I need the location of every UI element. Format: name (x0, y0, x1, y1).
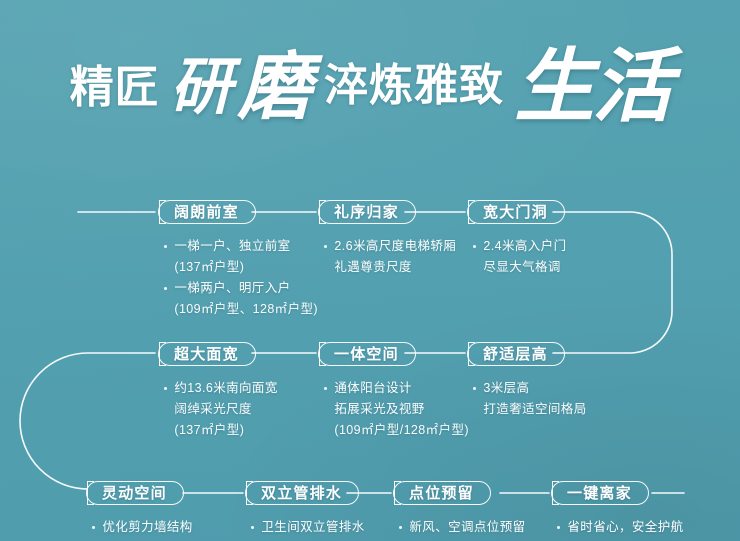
node-label-pill[interactable]: 宽大门洞 (467, 200, 565, 224)
list-item: 礼遇尊贵尺度 (324, 257, 456, 278)
node-title: 阔朗前室 (174, 205, 239, 220)
list-item: 省时省心，安全护航 (557, 517, 684, 538)
bracket-icon (394, 481, 395, 506)
list-item: 打造奢适空间格局 (473, 399, 587, 420)
headline-part-5: 生活 (514, 46, 670, 126)
node-title: 灵动空间 (102, 486, 167, 501)
feature-node-dianwei-yuliu[interactable]: 点位预留 新风、空调点位预留 便于后期装修 (393, 481, 526, 541)
page-headline: 精匠 研 磨 淬炼雅致 生活 (0, 34, 740, 114)
node-title: 超大面宽 (174, 347, 239, 362)
bullet-text: 优化剪力墙结构 (102, 517, 192, 538)
node-title: 礼序归家 (334, 205, 399, 220)
list-item: (137㎡户型) (164, 257, 318, 278)
bullet-text: 拓展采光及视野 (334, 399, 424, 420)
feature-node-yijian-lijia[interactable]: 一键离家 省时省心，安全护航 (551, 481, 684, 538)
node-title: 舒适层高 (483, 347, 548, 362)
feature-node-kuanda-mendong[interactable]: 宽大门洞 2.4米高入户门 尽显大气格调 (467, 200, 566, 278)
bracket-icon (468, 342, 469, 367)
list-item: 优化剪力墙结构 (92, 517, 193, 538)
list-item: 3米层高 (473, 378, 587, 399)
bullet-text: 卫生间双立管排水 (261, 517, 364, 538)
bullet-text: 阔绰采光尺度 (174, 399, 251, 420)
list-item: 2.6米高尺度电梯轿厢 (324, 236, 456, 257)
feature-node-kuolang-qianshi[interactable]: 阔朗前室 一梯一户、独立前室 (137㎡户型) 一梯两户、明厅入户 (109㎡户… (158, 200, 318, 320)
node-label-pill[interactable]: 一键离家 (551, 481, 649, 505)
node-label-pill[interactable]: 阔朗前室 (158, 200, 256, 224)
bullet-text: (137㎡户型) (174, 257, 244, 278)
feature-node-lingdong-kongjian[interactable]: 灵动空间 优化剪力墙结构 实现空间多变 (86, 481, 193, 541)
bullet-text: 一梯一户、独立前室 (174, 236, 290, 257)
list-item: 一梯一户、独立前室 (164, 236, 318, 257)
bullet-text: 通体阳台设计 (334, 378, 411, 399)
bullet-dot-icon (473, 387, 476, 390)
list-item: 约13.6米南向面宽 (164, 378, 278, 399)
feature-node-yiti-kongjian[interactable]: 一体空间 通体阳台设计 拓展采光及视野 (109㎡户型/128㎡户型) (318, 342, 469, 441)
headline-part-3: 磨 (238, 50, 310, 124)
bracket-icon (87, 481, 88, 506)
connector-left-uturn (20, 353, 155, 489)
list-item: (109㎡户型、128㎡户型) (164, 299, 318, 320)
headline-part-1: 精匠 (70, 66, 160, 110)
node-bullet-list: 2.4米高入户门 尽显大气格调 (467, 236, 566, 278)
headline-part-2: 研 (170, 56, 231, 118)
bullet-dot-icon (164, 287, 167, 290)
list-item: 通体阳台设计 (324, 378, 469, 399)
node-bullet-list: 一梯一户、独立前室 (137㎡户型) 一梯两户、明厅入户 (109㎡户型、128… (158, 236, 318, 320)
bullet-text: 3米层高 (483, 378, 529, 399)
bullet-dot-icon (164, 387, 167, 390)
bracket-icon (319, 200, 320, 225)
bracket-icon (319, 342, 320, 367)
feature-node-shushi-cenggao[interactable]: 舒适层高 3米层高 打造奢适空间格局 (467, 342, 587, 420)
list-item: 拓展采光及视野 (324, 399, 469, 420)
feature-node-lixu-guijia[interactable]: 礼序归家 2.6米高尺度电梯轿厢 礼遇尊贵尺度 (318, 200, 456, 278)
bracket-icon (159, 342, 160, 367)
node-bullet-list: 卫生间双立管排水 有效防止异味 (245, 517, 365, 541)
bracket-icon (246, 481, 247, 506)
node-title: 双立管排水 (261, 486, 342, 501)
node-label-pill[interactable]: 点位预留 (393, 481, 491, 505)
bullet-dot-icon (92, 526, 95, 529)
node-label-pill[interactable]: 舒适层高 (467, 342, 565, 366)
node-label-pill[interactable]: 一体空间 (318, 342, 416, 366)
bullet-dot-icon (324, 387, 327, 390)
node-bullet-list: 通体阳台设计 拓展采光及视野 (109㎡户型/128㎡户型) (318, 378, 469, 441)
node-bullet-list: 2.6米高尺度电梯轿厢 礼遇尊贵尺度 (318, 236, 456, 278)
node-label-pill[interactable]: 灵动空间 (86, 481, 184, 505)
list-item: 尽显大气格调 (473, 257, 566, 278)
bracket-icon (552, 481, 553, 506)
node-title: 一键离家 (567, 486, 632, 501)
bullet-text: 打造奢适空间格局 (483, 399, 586, 420)
list-item: 2.4米高入户门 (473, 236, 566, 257)
bullet-text: 省时省心，安全护航 (567, 517, 683, 538)
node-bullet-list: 新风、空调点位预留 便于后期装修 (393, 517, 526, 541)
bullet-text: (137㎡户型) (174, 420, 244, 441)
bracket-icon (468, 200, 469, 225)
connector-right-uturn (553, 212, 672, 353)
bullet-text: 尽显大气格调 (483, 257, 560, 278)
list-item: (109㎡户型/128㎡户型) (324, 420, 469, 441)
list-item: 新风、空调点位预留 (399, 517, 526, 538)
bracket-icon (159, 200, 160, 225)
bullet-text: (109㎡户型、128㎡户型) (174, 299, 318, 320)
bullet-dot-icon (473, 245, 476, 248)
bullet-text: 2.6米高尺度电梯轿厢 (334, 236, 456, 257)
node-bullet-list: 优化剪力墙结构 实现空间多变 (86, 517, 193, 541)
bullet-text: 新风、空调点位预留 (409, 517, 525, 538)
node-label-pill[interactable]: 超大面宽 (158, 342, 256, 366)
bullet-dot-icon (557, 526, 560, 529)
node-label-pill[interactable]: 礼序归家 (318, 200, 416, 224)
node-bullet-list: 3米层高 打造奢适空间格局 (467, 378, 587, 420)
bullet-dot-icon (399, 526, 402, 529)
bullet-text: 礼遇尊贵尺度 (334, 257, 411, 278)
feature-node-chaoda-miankuan[interactable]: 超大面宽 约13.6米南向面宽 阔绰采光尺度 (137㎡户型) (158, 342, 278, 441)
node-title: 点位预留 (409, 486, 474, 501)
list-item: 一梯两户、明厅入户 (164, 278, 318, 299)
headline-part-4: 淬炼雅致 (324, 64, 504, 108)
node-title: 宽大门洞 (483, 205, 548, 220)
bullet-dot-icon (164, 245, 167, 248)
node-bullet-list: 省时省心，安全护航 (551, 517, 684, 538)
list-item: 卫生间双立管排水 (251, 517, 365, 538)
bullet-text: 约13.6米南向面宽 (174, 378, 277, 399)
bullet-text: 一梯两户、明厅入户 (174, 278, 290, 299)
feature-node-shuangliguan-paishui[interactable]: 双立管排水 卫生间双立管排水 有效防止异味 (245, 481, 365, 541)
node-title: 一体空间 (334, 347, 399, 362)
node-label-pill[interactable]: 双立管排水 (245, 481, 359, 505)
bullet-text: 2.4米高入户门 (483, 236, 566, 257)
bullet-dot-icon (324, 245, 327, 248)
list-item: (137㎡户型) (164, 420, 278, 441)
list-item: 阔绰采光尺度 (164, 399, 278, 420)
bullet-text: (109㎡户型/128㎡户型) (334, 420, 469, 441)
bullet-dot-icon (251, 526, 254, 529)
node-bullet-list: 约13.6米南向面宽 阔绰采光尺度 (137㎡户型) (158, 378, 278, 441)
